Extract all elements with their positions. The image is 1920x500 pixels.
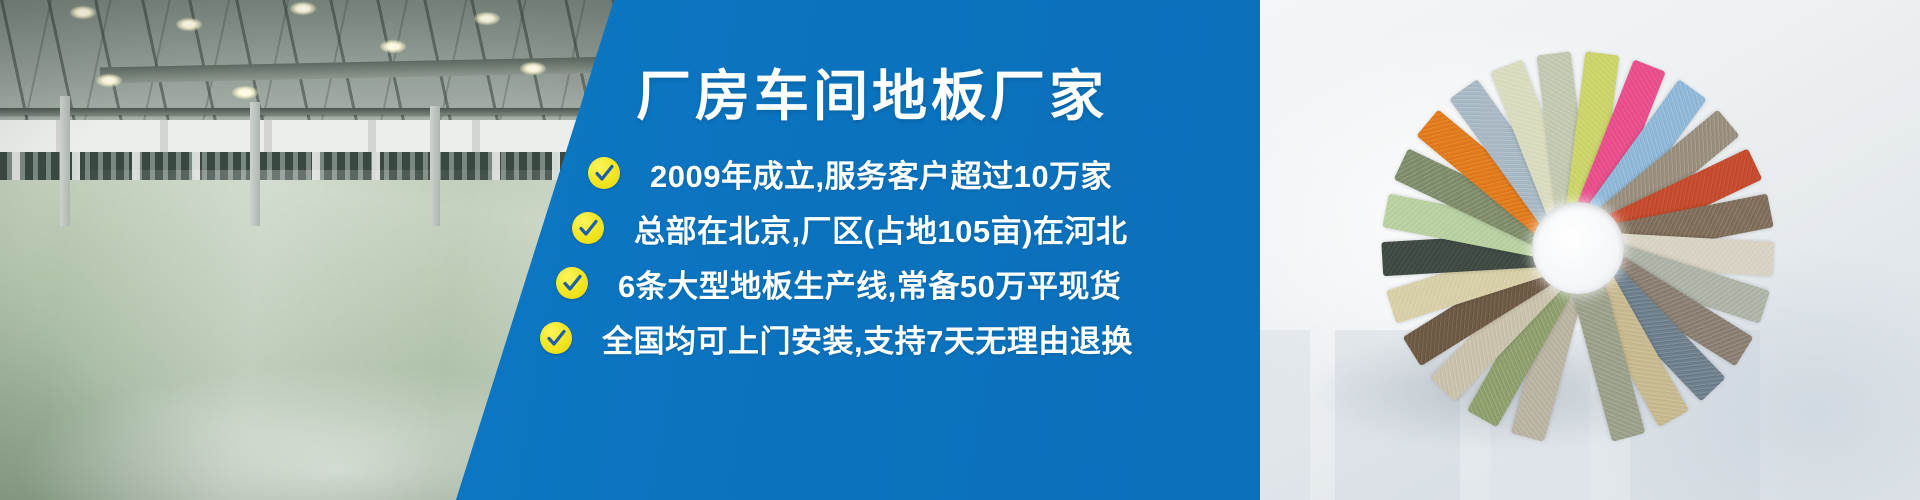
check-circle-icon [588,157,620,189]
fan-center-hole [1532,202,1624,294]
feature-bullet-text: 全国均可上门安装,支持7天无理由退换 [602,316,1133,361]
feature-bullet-item: 6条大型地板生产线,常备50万平现货 [556,256,1260,310]
flooring-color-swatch-fan-photo [1160,0,1920,500]
promo-banner: 厂房车间地板厂家 2009年成立,服务客户超过10万家总部在北京,厂区(占地10… [0,0,1920,500]
feature-bullet-item: 全国均可上门安装,支持7天无理由退换 [540,311,1260,365]
swatch-fan [1348,18,1808,478]
page-title: 厂房车间地板厂家 [636,68,1108,126]
check-circle-icon [540,322,572,354]
feature-bullet-text: 总部在北京,厂区(占地105亩)在河北 [634,206,1127,251]
feature-bullet-list: 2009年成立,服务客户超过10万家总部在北京,厂区(占地105亩)在河北6条大… [540,146,1260,366]
banner-content: 厂房车间地板厂家 2009年成立,服务客户超过10万家总部在北京,厂区(占地10… [0,0,1260,500]
feature-bullet-text: 2009年成立,服务客户超过10万家 [650,151,1112,196]
check-circle-icon [572,212,604,244]
check-circle-icon [556,267,588,299]
feature-bullet-item: 2009年成立,服务客户超过10万家 [588,146,1260,200]
feature-bullet-item: 总部在北京,厂区(占地105亩)在河北 [572,201,1260,255]
feature-bullet-text: 6条大型地板生产线,常备50万平现货 [618,261,1121,306]
